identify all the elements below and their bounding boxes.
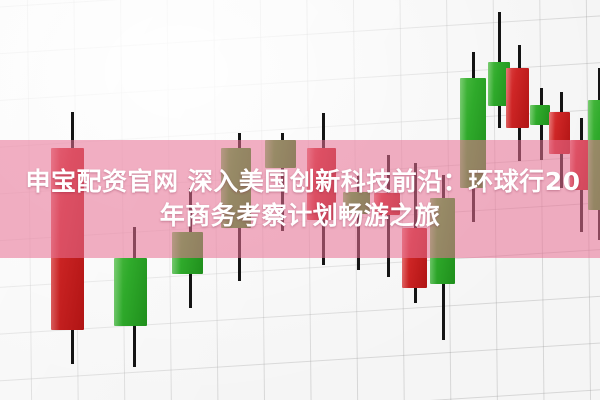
candlestick-banner: 申宝配资官网 深入美国创新科技前沿：环球行20 年商务考察计划畅游之旅 (0, 0, 600, 400)
candle-body-up (172, 232, 203, 274)
candle-body-down (570, 140, 590, 190)
candle-body-up (114, 258, 147, 326)
candle-body-down (374, 193, 400, 215)
candle-body-down (51, 148, 84, 330)
candle-body-up (460, 78, 486, 188)
candle-body-up (588, 100, 600, 210)
candle-body-up (530, 105, 550, 125)
candle-body-down (549, 112, 570, 154)
candle-wick (357, 176, 360, 270)
candle-body-down (307, 148, 336, 220)
candlestick-plot (0, 0, 600, 400)
candle-body-down (506, 68, 529, 128)
candle-body-up (430, 198, 455, 284)
candle-body-up (221, 148, 251, 228)
candle-wick (387, 155, 390, 277)
candle-body-up (343, 192, 370, 214)
candle-body-down (402, 228, 427, 288)
candle-body-up (265, 140, 296, 168)
